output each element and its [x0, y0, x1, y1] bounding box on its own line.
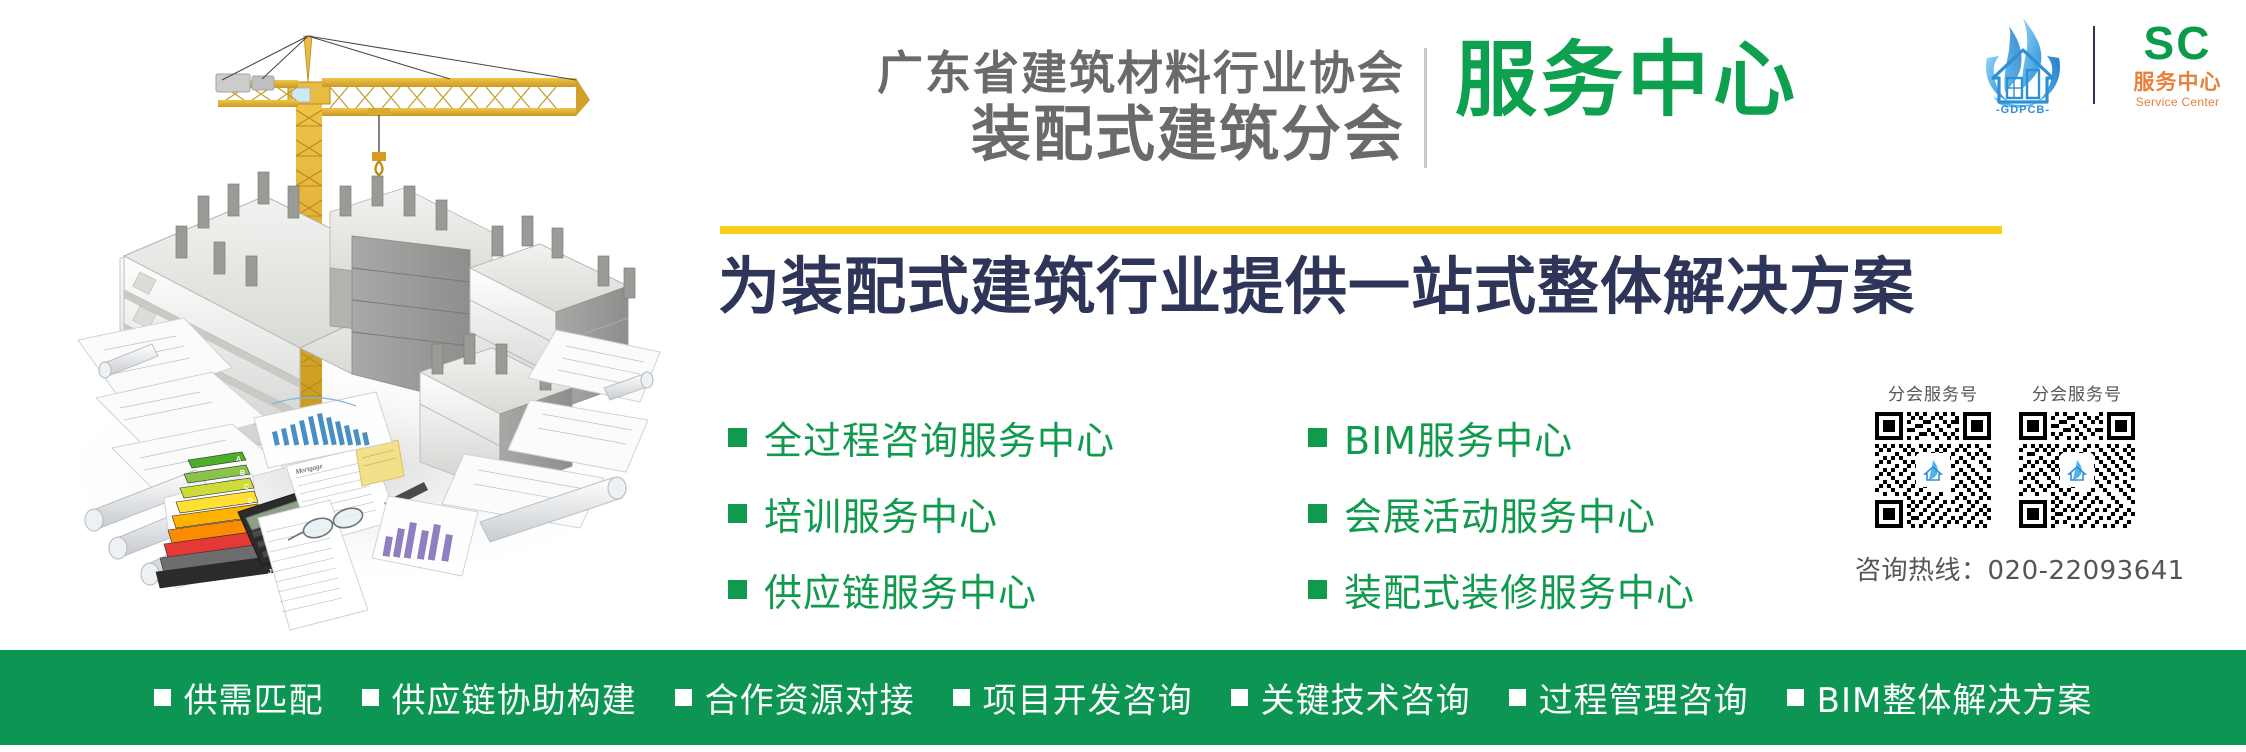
qr-embedded-logo-icon — [1916, 453, 1950, 487]
square-bullet-icon — [1787, 689, 1804, 706]
service-label: BIM服务中心 — [1344, 410, 1573, 465]
svg-text:C: C — [244, 484, 249, 491]
square-bullet-icon — [728, 504, 747, 523]
footer-label: 供应链协助构建 — [392, 673, 637, 722]
footer-item[interactable]: 关键技术咨询 — [1231, 673, 1471, 722]
svg-text:J: J — [268, 569, 272, 576]
service-column-left: 全过程咨询服务中心 培训服务中心 供应链服务中心 — [728, 408, 1115, 636]
footer-item[interactable]: 合作资源对接 — [675, 673, 915, 722]
qr-caption: 分会服务号 — [1875, 380, 1991, 405]
qr-code-area: 分会服务号 — [1875, 380, 2165, 528]
footer-item[interactable]: BIM整体解决方案 — [1787, 673, 2093, 722]
footer-label: 关键技术咨询 — [1261, 673, 1471, 722]
service-label: 培训服务中心 — [764, 486, 998, 541]
svg-text:A: A — [236, 456, 241, 463]
logo-text-block: SC 服务中心 Service Center — [2115, 20, 2240, 110]
square-bullet-icon — [1509, 689, 1526, 706]
qr-code-cell: 分会服务号 — [1875, 380, 1991, 528]
footer-label: 供需匹配 — [184, 673, 324, 722]
logo[interactable]: -GDPCB- SC 服务中心 Service Center — [1965, 12, 2240, 116]
logo-cn-label: 服务中心 — [2115, 70, 2240, 95]
square-bullet-icon — [728, 580, 747, 599]
service-label: 全过程咨询服务中心 — [764, 410, 1115, 465]
footer-label: 过程管理咨询 — [1539, 673, 1749, 722]
square-bullet-icon — [728, 428, 747, 447]
qr-code-image-2[interactable] — [2019, 412, 2135, 528]
list-item[interactable]: BIM服务中心 — [1308, 408, 1695, 466]
accent-rule — [720, 226, 2002, 234]
logo-abbr: SC — [2115, 20, 2240, 66]
footer-label: 合作资源对接 — [705, 673, 915, 722]
logo-en-label: Service Center — [2115, 95, 2240, 109]
footer-label: 项目开发咨询 — [983, 673, 1193, 722]
association-name-line1: 广东省建筑材料行业协会 — [845, 48, 1405, 100]
footer-item[interactable]: 供需匹配 — [154, 673, 324, 722]
construction-illustration: AB CD EF GH J — [0, 0, 690, 648]
qr-code-cell: 分会服务号 — [2019, 380, 2135, 528]
list-item[interactable]: 装配式装修服务中心 — [1308, 560, 1695, 618]
square-bullet-icon — [362, 689, 379, 706]
qr-code-image-1[interactable] — [1875, 412, 1991, 528]
square-bullet-icon — [953, 689, 970, 706]
footer-label: BIM整体解决方案 — [1817, 673, 2093, 722]
service-label: 供应链服务中心 — [764, 562, 1037, 617]
banner-root: AB CD EF GH J — [0, 0, 2246, 752]
list-item[interactable]: 供应链服务中心 — [728, 560, 1115, 618]
qr-caption: 分会服务号 — [2019, 380, 2135, 405]
list-item[interactable]: 全过程咨询服务中心 — [728, 408, 1115, 466]
footer-bar: 供需匹配 供应链协助构建 合作资源对接 项目开发咨询 关键技术咨询 过程管理咨询… — [0, 650, 2246, 745]
header-divider — [1424, 48, 1427, 168]
list-item[interactable]: 培训服务中心 — [728, 484, 1115, 542]
service-label: 会展活动服务中心 — [1344, 486, 1656, 541]
square-bullet-icon — [154, 689, 171, 706]
service-center-title: 服务中心 — [1455, 40, 1799, 122]
qr-embedded-logo-icon — [2060, 453, 2094, 487]
hotline-text: 咨询热线：020-22093641 — [1855, 550, 2185, 587]
square-bullet-icon — [675, 689, 692, 706]
svg-text:B: B — [240, 470, 245, 477]
gdpcb-emblem-icon: -GDPCB- — [1965, 12, 2081, 116]
list-item[interactable]: 会展活动服务中心 — [1308, 484, 1695, 542]
square-bullet-icon — [1231, 689, 1248, 706]
association-name-block: 广东省建筑材料行业协会 装配式建筑分会 — [845, 48, 1405, 168]
square-bullet-icon — [1308, 504, 1327, 523]
logo-divider — [2093, 26, 2095, 104]
footer-item[interactable]: 项目开发咨询 — [953, 673, 1193, 722]
svg-text:D: D — [248, 498, 253, 505]
service-column-right: BIM服务中心 会展活动服务中心 装配式装修服务中心 — [1308, 408, 1695, 636]
association-name-line2: 装配式建筑分会 — [845, 102, 1405, 168]
footer-item[interactable]: 供应链协助构建 — [362, 673, 637, 722]
service-label: 装配式装修服务中心 — [1344, 562, 1695, 617]
page-tagline: 为装配式建筑行业提供一站式整体解决方案 — [718, 252, 1915, 321]
square-bullet-icon — [1308, 428, 1327, 447]
gdpcb-wordmark: -GDPCB- — [1996, 104, 2050, 116]
footer-item[interactable]: 过程管理咨询 — [1509, 673, 1749, 722]
square-bullet-icon — [1308, 580, 1327, 599]
